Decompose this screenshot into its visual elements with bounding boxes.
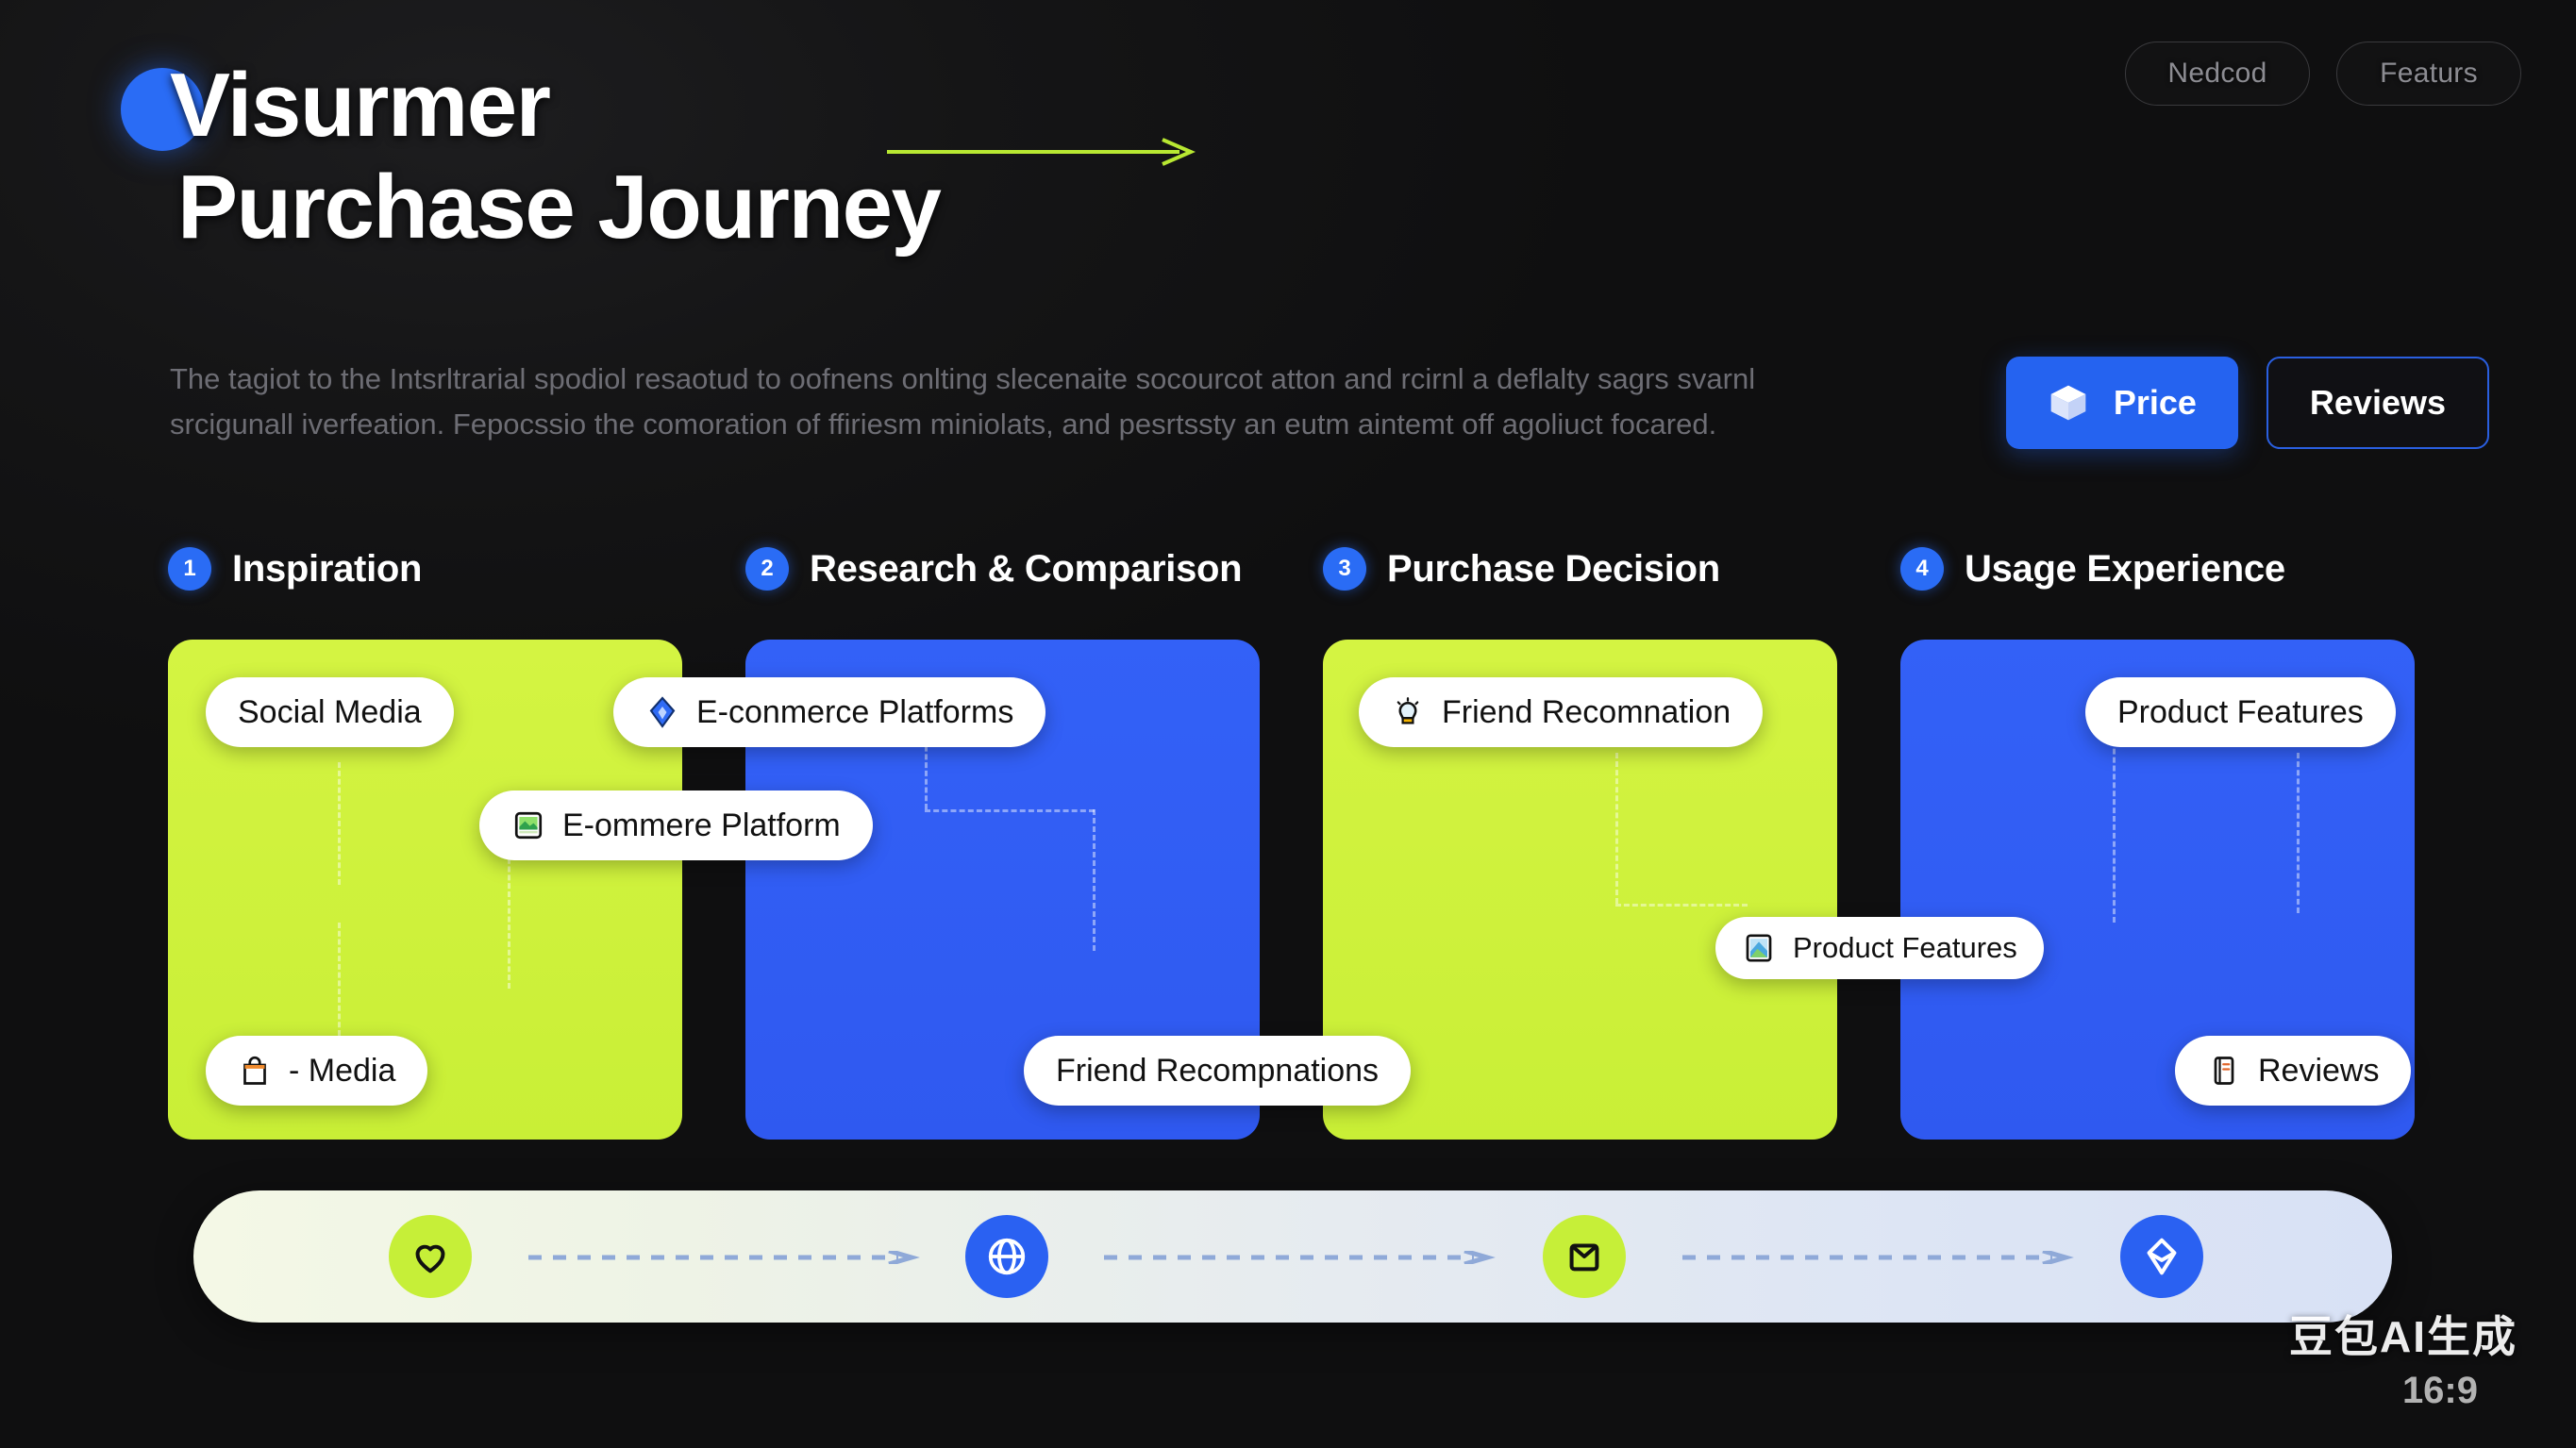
briefcase-icon (1563, 1235, 1606, 1278)
timeline-arrow-1 (528, 1251, 925, 1264)
stage-badge-3: 3 (1323, 547, 1366, 591)
chip-label: Social Media (238, 694, 422, 731)
stage-badge-4: 4 (1900, 547, 1944, 591)
stage-header-4[interactable]: 4 Usage Experience (1900, 547, 2285, 591)
timeline-node-inspiration[interactable] (389, 1215, 472, 1298)
connector-dashed (338, 762, 341, 885)
heart-icon (409, 1235, 452, 1278)
stage-header-3[interactable]: 3 Purchase Decision (1323, 547, 1720, 591)
timeline-node-purchase[interactable] (1543, 1215, 1626, 1298)
connector-dashed (1615, 904, 1748, 907)
stage-headers: 1 Inspiration 2 Research & Comparison 3 … (168, 547, 2414, 613)
chip-label: Reviews (2258, 1053, 2379, 1090)
chip-reviews[interactable]: Reviews (2175, 1036, 2411, 1106)
chip-product-features-3[interactable]: Product Features (1715, 917, 2044, 979)
globe-icon (985, 1235, 1029, 1278)
image-chart-icon (1742, 931, 1776, 965)
action-buttons: Price Reviews (2006, 357, 2489, 449)
stage-header-1[interactable]: 1 Inspiration (168, 547, 422, 591)
chip-label: E-ommere Platform (562, 807, 841, 844)
timeline-arrow-3 (1682, 1251, 2079, 1264)
chip-ecommerce-platforms[interactable]: E-conmerce Platforms (613, 677, 1045, 747)
connector-dashed (925, 809, 1095, 812)
shopping-bag-icon (238, 1054, 272, 1088)
intro-line-2: srcigunall iverfeation. Fepocssio the co… (170, 402, 1831, 447)
stage-badge-1: 1 (168, 547, 211, 591)
intro-line-1: The tagiot to the Intsrltrarial spodiol … (170, 357, 1831, 402)
timeline-node-research[interactable] (965, 1215, 1048, 1298)
chip-friend-recomnation[interactable]: Friend Recomnation (1359, 677, 1763, 747)
top-navigation: Nedcod Featurs (2125, 42, 2521, 106)
connector-dashed (2297, 753, 2300, 913)
poster-canvas: Nedcod Featurs Visurmer Purchase Journey… (0, 0, 2576, 1448)
chip-label: Friend Recompnations (1056, 1053, 1379, 1090)
reviews-button-label: Reviews (2310, 383, 2446, 423)
intro-paragraph: The tagiot to the Intsrltrarial spodiol … (170, 357, 1831, 447)
chip-media[interactable]: - Media (206, 1036, 427, 1106)
timeline-node-usage[interactable] (2120, 1215, 2203, 1298)
connector-dashed (338, 923, 341, 1036)
watermark-text: 豆包AI生成 (2289, 1303, 2517, 1365)
chip-product-features-4[interactable]: Product Features (2085, 677, 2396, 747)
stage-label-1: Inspiration (232, 548, 422, 591)
title-line-1: Visurmer (170, 55, 940, 157)
title-arrow-icon (887, 138, 1208, 166)
chip-ecommerce-platform[interactable]: E-ommere Platform (479, 791, 873, 860)
stage-header-2[interactable]: 2 Research & Comparison (745, 547, 1242, 591)
diamond-blue-icon (645, 695, 679, 729)
nav-pill-nedcod[interactable]: Nedcod (2125, 42, 2310, 106)
connector-dashed (1093, 809, 1096, 951)
chip-social-media[interactable]: Social Media (206, 677, 454, 747)
title-line-2: Purchase Journey (177, 157, 940, 258)
stage-label-3: Purchase Decision (1387, 548, 1720, 591)
diamond-gem-icon (2140, 1235, 2183, 1278)
timeline-arrow-2 (1104, 1251, 1500, 1264)
chip-label: Friend Recomnation (1442, 694, 1731, 731)
nav-pill-label: Featurs (2380, 58, 2478, 90)
chip-friend-recompnations[interactable]: Friend Recompnations (1024, 1036, 1411, 1106)
journey-timeline (193, 1190, 2392, 1323)
connector-dashed (1615, 753, 1618, 904)
price-button[interactable]: Price (2006, 357, 2238, 449)
stage-label-4: Usage Experience (1965, 548, 2285, 591)
stage-label-2: Research & Comparison (810, 548, 1242, 591)
package-box-icon (2048, 382, 2089, 424)
nav-pill-label: Nedcod (2167, 58, 2267, 90)
nav-pill-featurs[interactable]: Featurs (2336, 42, 2521, 106)
chip-label: Product Features (1793, 931, 2017, 965)
reviews-button[interactable]: Reviews (2267, 357, 2489, 449)
stage-badge-2: 2 (745, 547, 789, 591)
lightbulb-icon (1391, 695, 1425, 729)
chip-label: - Media (289, 1053, 395, 1090)
chip-label: Product Features (2117, 694, 2364, 731)
page-title: Visurmer Purchase Journey (170, 55, 940, 258)
book-icon (2207, 1054, 2241, 1088)
image-green-icon (511, 808, 545, 842)
price-button-label: Price (2114, 383, 2197, 423)
chip-label: E-conmerce Platforms (696, 694, 1013, 731)
watermark-ratio: 16:9 (2402, 1370, 2478, 1412)
